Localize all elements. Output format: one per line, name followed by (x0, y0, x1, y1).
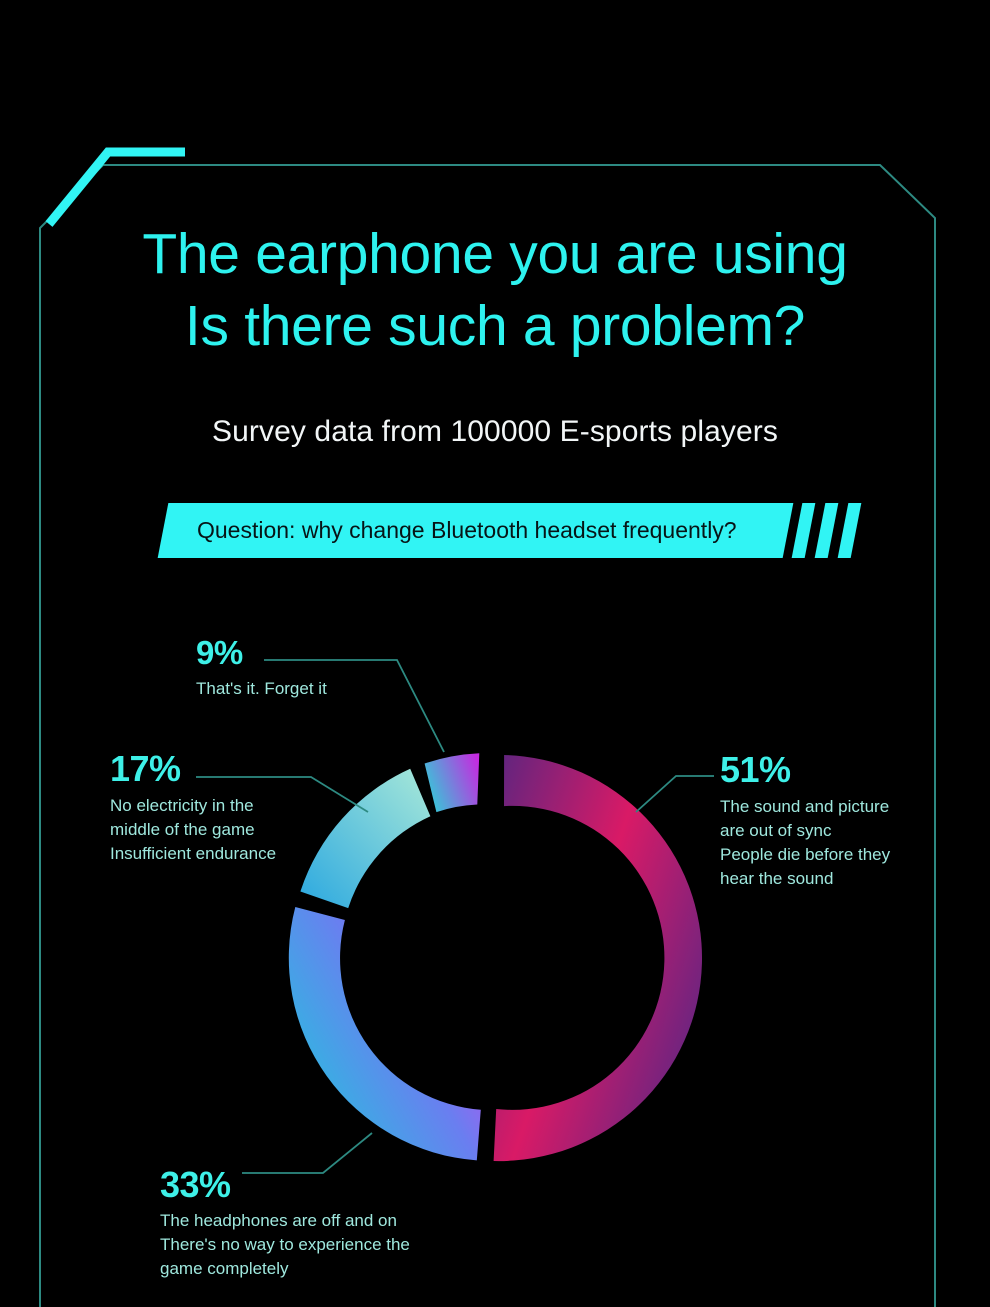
leader-line-51 (636, 776, 714, 812)
leader-lines (0, 0, 990, 1307)
callout-percent-9: 9% (196, 633, 327, 673)
callout-description-9: That's it. Forget it (196, 677, 327, 701)
callout-percent-17: 17% (110, 749, 276, 789)
callout-percent-33: 33% (160, 1165, 410, 1205)
callout-description-33: The headphones are off and on There's no… (160, 1209, 410, 1281)
callout-percent-51: 51% (720, 750, 890, 790)
callout-33: 33% The headphones are off and on There'… (160, 1165, 410, 1281)
infographic-poster: The earphone you are using Is there such… (0, 0, 990, 1307)
callout-51: 51% The sound and picture are out of syn… (720, 750, 890, 891)
callout-description-51: The sound and picture are out of sync Pe… (720, 795, 890, 891)
callout-9: 9% That's it. Forget it (196, 633, 327, 701)
callout-17: 17% No electricity in the middle of the … (110, 749, 276, 866)
callout-description-17: No electricity in the middle of the game… (110, 794, 276, 866)
